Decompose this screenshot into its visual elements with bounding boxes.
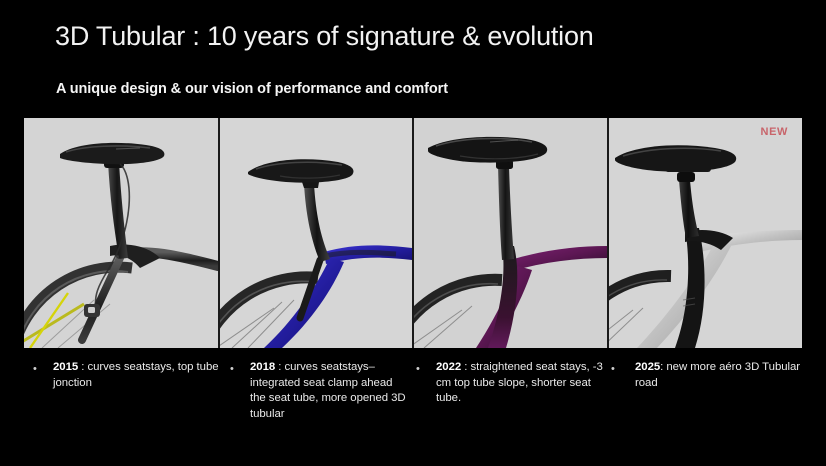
caption-text-2025: 2025: new more aéro 3D Tubular road [635, 360, 801, 391]
caption-body-2022: : straightened seat stays, -3 cm top tub… [436, 361, 603, 404]
caption-year-2015: 2015 [53, 361, 78, 373]
caption-year-2022: 2022 [436, 361, 461, 373]
caption-text-2018: 2018 : curves seatstays–integrated seat … [250, 360, 410, 422]
bullet-icon: • [611, 360, 635, 378]
bike-illustration-2025 [609, 118, 802, 348]
caption-body-2025: : new more aéro 3D Tubular road [635, 361, 800, 389]
bike-illustration-2022 [414, 118, 607, 348]
caption-text-2015: 2015 : curves seatstays, top tube joncti… [53, 360, 223, 391]
caption-item-2015: • 2015 : curves seatstays, top tube jonc… [33, 360, 223, 391]
caption-text-2022: 2022 : straightened seat stays, -3 cm to… [436, 360, 606, 407]
gallery-panel-2025[interactable]: NEW [609, 118, 802, 348]
bike-illustration-2015 [24, 118, 218, 348]
caption-year-2025: 2025 [635, 361, 660, 373]
image-gallery-strip: NEW [24, 118, 802, 348]
slide-root: 3D Tubular : 10 years of signature & evo… [0, 0, 826, 466]
caption-list: • 2015 : curves seatstays, top tube jonc… [0, 360, 826, 460]
caption-year-2018: 2018 [250, 361, 275, 373]
bike-illustration-2018 [220, 118, 412, 348]
caption-item-2022: • 2022 : straightened seat stays, -3 cm … [416, 360, 606, 407]
bullet-icon: • [33, 360, 53, 378]
gallery-panel-2015[interactable] [24, 118, 218, 348]
gallery-panel-2018[interactable] [220, 118, 412, 348]
caption-body-2015: : curves seatstays, top tube jonction [53, 361, 219, 389]
new-badge: NEW [761, 126, 788, 138]
caption-item-2018: • 2018 : curves seatstays–integrated sea… [230, 360, 410, 422]
bullet-icon: • [230, 360, 250, 378]
caption-item-2025: • 2025: new more aéro 3D Tubular road [611, 360, 801, 391]
gallery-panel-2022[interactable] [414, 118, 607, 348]
bullet-icon: • [416, 360, 436, 378]
page-title: 3D Tubular : 10 years of signature & evo… [55, 19, 594, 53]
page-subtitle: A unique design & our vision of performa… [56, 79, 448, 99]
